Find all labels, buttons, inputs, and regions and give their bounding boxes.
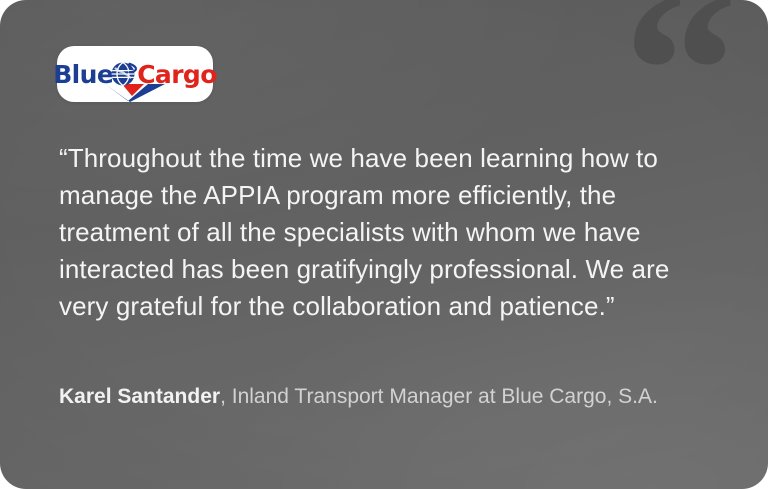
testimonial-quote: “Throughout the time we have been learni… bbox=[59, 140, 699, 325]
author-name: Karel Santander bbox=[59, 385, 220, 408]
globe-icon bbox=[109, 59, 139, 89]
author-role: Inland Transport Manager at Blue Cargo, … bbox=[226, 385, 658, 408]
testimonial-card: “ Blue Cargo bbox=[0, 0, 768, 489]
testimonial-attribution: Karel Santander, Inland Transport Manage… bbox=[59, 381, 659, 412]
logo-inner: Blue Cargo bbox=[53, 57, 217, 91]
blue-cargo-logo: Blue Cargo bbox=[57, 46, 213, 102]
